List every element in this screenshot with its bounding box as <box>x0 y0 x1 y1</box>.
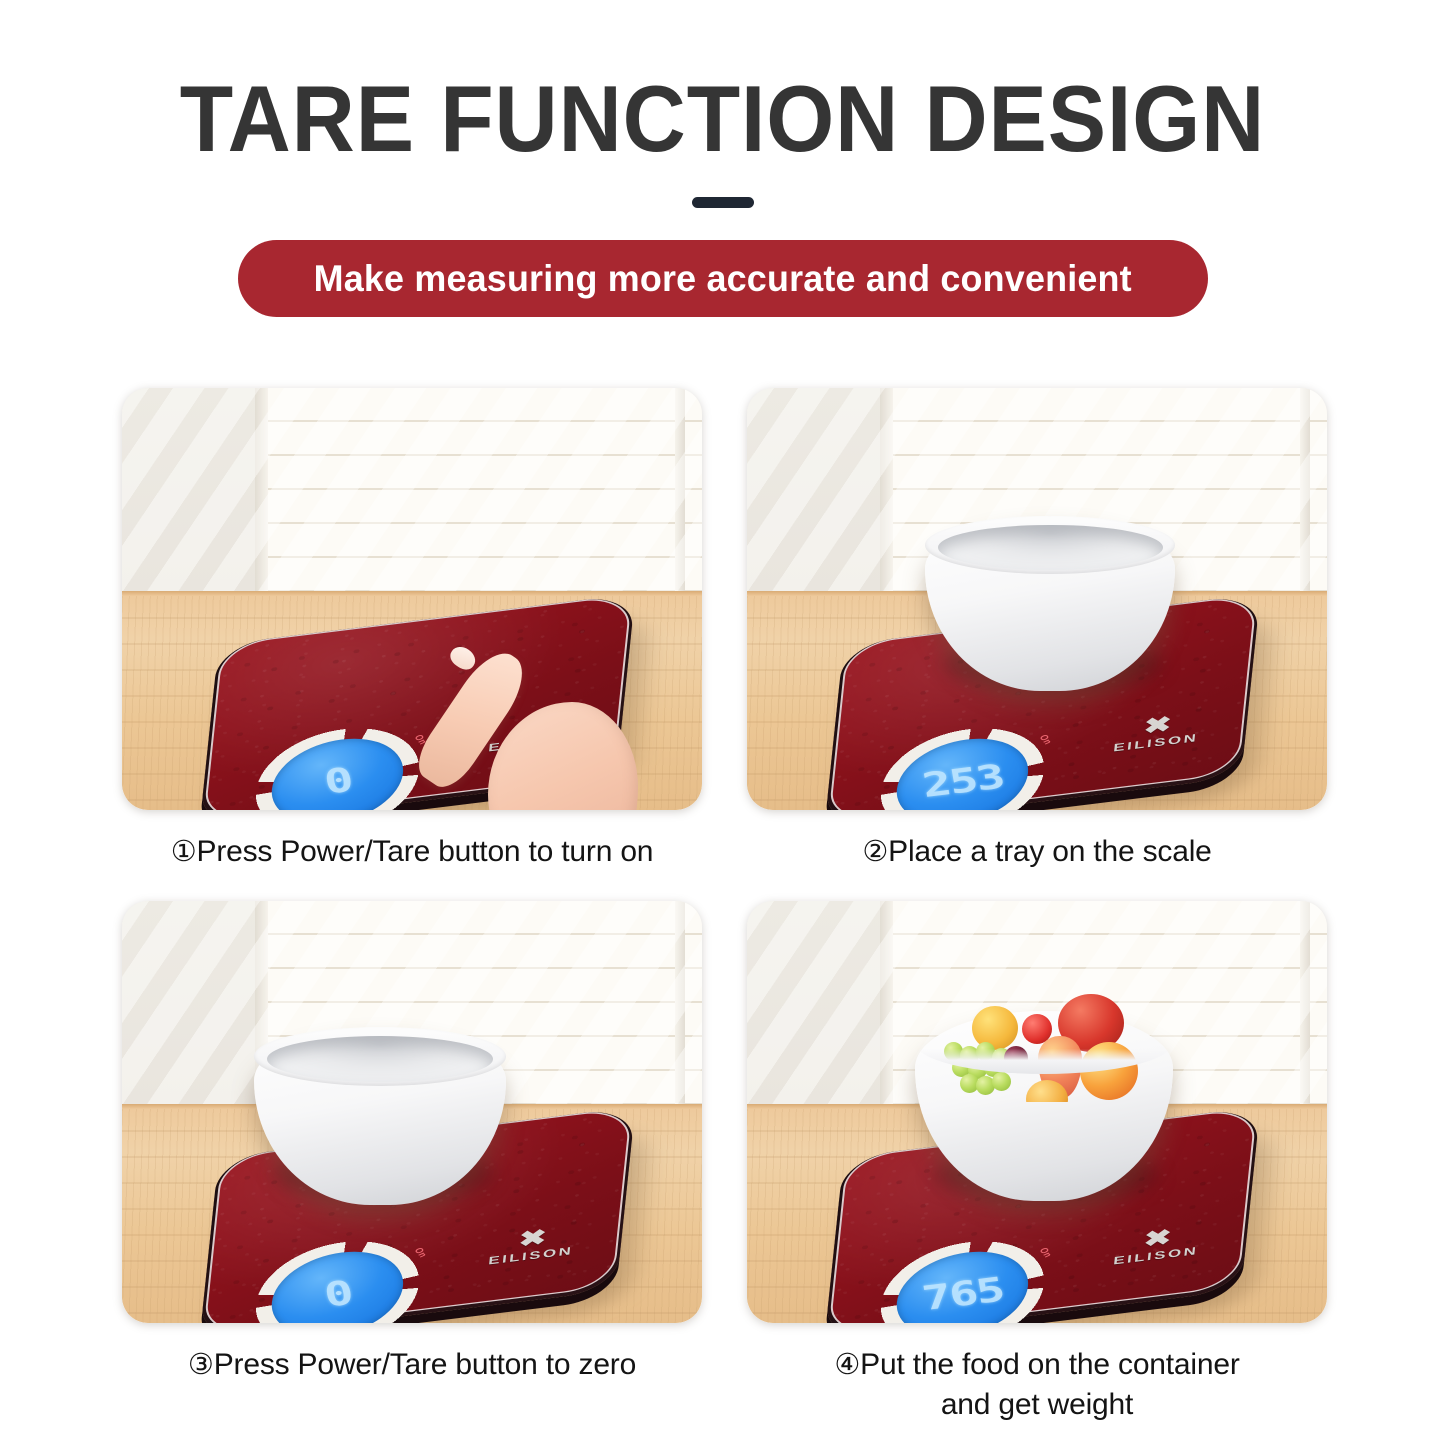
step-caption-1: ①Press Power/Tare button to turn on <box>122 832 702 872</box>
ceramic-bowl-3 <box>254 1027 506 1205</box>
step-caption-text-4: Put the food on the container <box>860 1348 1239 1381</box>
step-number-4: ④ <box>834 1349 860 1381</box>
lcd-value-4: 765 <box>919 1270 1006 1318</box>
sunlight-stripes <box>122 388 702 591</box>
step-image-2: ✖ EILISON 253 Unit On Max:5000g g/lb <box>747 388 1327 810</box>
step-number-3: ③ <box>188 1349 214 1381</box>
step-image-1: ✖ EILISON 0 Unit On Max:5000g g/lb <box>122 388 702 810</box>
steps-grid: ✖ EILISON 0 Unit On Max:5000g g/lb <box>122 388 1327 1398</box>
step-number-1: ① <box>171 836 197 868</box>
step-card-3: ✖ EILISON 0 Unit On Max:5000g g/lb <box>122 901 702 1385</box>
step-caption-text-2: Place a tray on the scale <box>888 835 1212 868</box>
step-caption-text-3: Press Power/Tare button to zero <box>214 1348 636 1381</box>
lcd-value-1: 0 <box>321 760 355 802</box>
fruit-bowl-4 <box>915 1011 1173 1201</box>
step-image-3: ✖ EILISON 0 Unit On Max:5000g g/lb <box>122 901 702 1323</box>
hand-palm <box>488 702 638 810</box>
hand-pressing-button <box>440 650 650 810</box>
step-caption-3: ③Press Power/Tare button to zero <box>122 1345 702 1385</box>
bowl-interior <box>267 1036 494 1082</box>
step-caption-2: ②Place a tray on the scale <box>747 832 1327 872</box>
step-card-2: ✖ EILISON 253 Unit On Max:5000g g/lb <box>747 388 1327 872</box>
subtitle-banner: Make measuring more accurate and conveni… <box>238 240 1208 317</box>
title-divider <box>692 197 754 208</box>
step-number-2: ② <box>862 836 888 868</box>
step-card-4: ✖ EILISON 765 Unit On Max:5000g g/lb <box>747 901 1327 1424</box>
subtitle-text: Make measuring more accurate and conveni… <box>313 258 1131 300</box>
step-caption-text-4-line2: and get weight <box>941 1388 1133 1421</box>
step-caption-4: ④Put the food on the container and get w… <box>747 1345 1327 1424</box>
step-caption-text-1: Press Power/Tare button to turn on <box>197 835 654 868</box>
bowl-interior <box>938 525 1163 571</box>
bowl-rim <box>915 1011 1173 1074</box>
ceramic-bowl-2 <box>925 516 1175 691</box>
page-title: TARE FUNCTION DESIGN <box>51 72 1395 166</box>
lcd-value-2: 253 <box>919 757 1006 805</box>
lcd-value-3: 0 <box>321 1273 355 1315</box>
step-card-1: ✖ EILISON 0 Unit On Max:5000g g/lb <box>122 388 702 872</box>
step-image-4: ✖ EILISON 765 Unit On Max:5000g g/lb <box>747 901 1327 1323</box>
